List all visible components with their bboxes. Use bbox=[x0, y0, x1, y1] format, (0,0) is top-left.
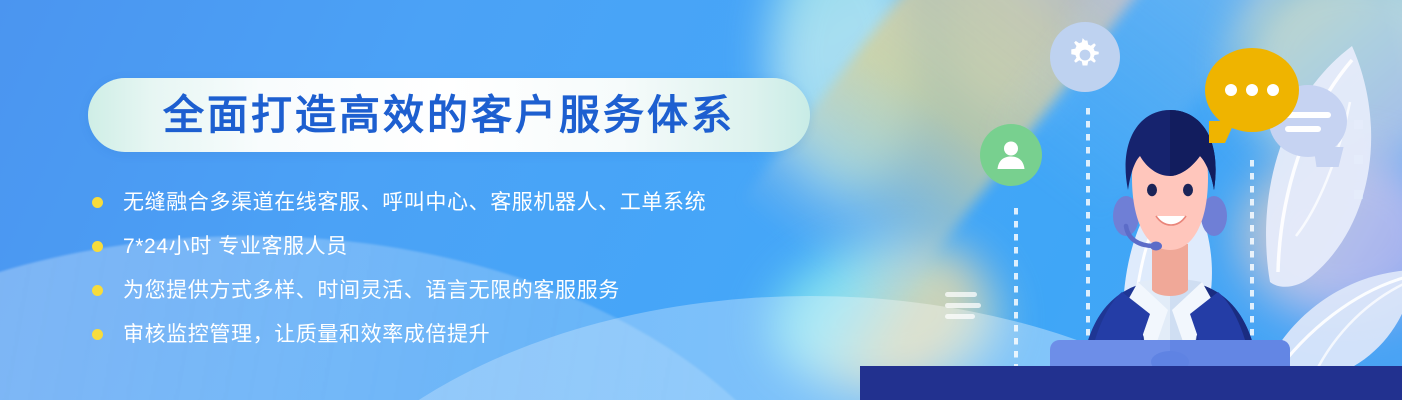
page-title: 全面打造高效的客户服务体系 bbox=[163, 95, 735, 136]
gear-icon bbox=[1066, 38, 1104, 76]
gear-badge[interactable] bbox=[1050, 22, 1120, 92]
chat-bubble-dots-icon[interactable] bbox=[1205, 48, 1299, 132]
title-pill: 全面打造高效的客户服务体系 bbox=[88, 78, 810, 152]
list-item: 7*24小时 专业客服人员 bbox=[92, 226, 832, 267]
list-item: 为您提供方式多样、时间灵活、语言无限的客服服务 bbox=[92, 270, 832, 311]
banner-content: 全面打造高效的客户服务体系 无缝融合多渠道在线客服、呼叫中心、客服机器人、工单系… bbox=[0, 0, 860, 400]
menu-lines-icon bbox=[945, 292, 981, 325]
bullet-dot-icon bbox=[92, 197, 103, 208]
list-item-label: 无缝融合多渠道在线客服、呼叫中心、客服机器人、工单系统 bbox=[123, 192, 706, 213]
list-item: 审核监控管理，让质量和效率成倍提升 bbox=[92, 314, 832, 355]
headset-agent-illustration bbox=[1010, 104, 1330, 400]
list-item-label: 为您提供方式多样、时间灵活、语言无限的客服服务 bbox=[123, 280, 620, 301]
banner-root: 全面打造高效的客户服务体系 无缝融合多渠道在线客服、呼叫中心、客服机器人、工单系… bbox=[0, 0, 1402, 400]
bullet-dot-icon bbox=[92, 241, 103, 252]
list-item-label: 7*24小时 专业客服人员 bbox=[123, 236, 348, 257]
bullet-dot-icon bbox=[92, 329, 103, 340]
list-item-label: 审核监控管理，让质量和效率成倍提升 bbox=[123, 324, 490, 345]
bullet-dot-icon bbox=[92, 285, 103, 296]
hero-illustration bbox=[860, 0, 1402, 400]
list-item: 无缝融合多渠道在线客服、呼叫中心、客服机器人、工单系统 bbox=[92, 182, 832, 223]
feature-list: 无缝融合多渠道在线客服、呼叫中心、客服机器人、工单系统 7*24小时 专业客服人… bbox=[92, 182, 832, 355]
desk-surface bbox=[860, 366, 1402, 400]
